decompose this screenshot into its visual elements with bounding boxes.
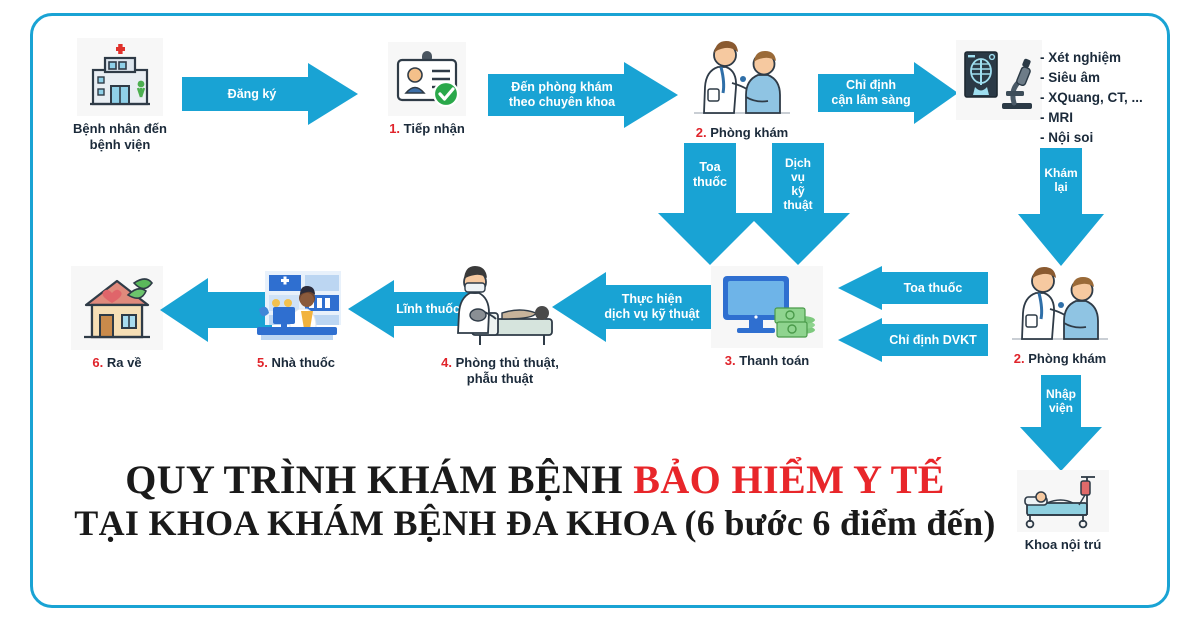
- step-label: Khoa nội trú: [1025, 537, 1102, 552]
- arrow-do-tech-service: Thực hiện dịch vụ kỹ thuật: [552, 272, 712, 342]
- arrow-reexam: Khám lại: [1018, 148, 1104, 266]
- arrow-tech-service-down: Dịch vụ kỹ thuật: [746, 143, 850, 265]
- node-payment: 3. Thanh toán: [708, 266, 826, 369]
- hospital-icon: [77, 38, 163, 116]
- step-label: Bệnh nhân đến bệnh viện: [73, 121, 167, 152]
- arrow-register: Đăng ký: [182, 63, 358, 125]
- step-label: Phòng khám: [707, 125, 789, 140]
- node-inpatient: Khoa nội trú: [1008, 470, 1118, 553]
- doctor-patient-icon: [687, 36, 797, 120]
- node-caption: 5. Nhà thuốc: [240, 355, 352, 371]
- title-highlight: BẢO HIỂM Y TẾ: [633, 457, 945, 502]
- doctor-patient-icon: [1005, 262, 1115, 346]
- step-number: 4.: [441, 355, 452, 370]
- node-patient-arrives: Bệnh nhân đến bệnh viện: [65, 38, 175, 154]
- step-label: Nhà thuốc: [268, 355, 335, 370]
- step-label: Phòng khám: [1025, 351, 1107, 366]
- title-line-1: QUY TRÌNH KHÁM BỆNH BẢO HIỂM Y TẾ: [55, 458, 1015, 503]
- title-subtitle: (6 bước 6 điểm đến): [684, 503, 995, 543]
- node-caption: 1. Tiếp nhận: [378, 121, 476, 137]
- step-number: 2.: [1014, 351, 1025, 366]
- arrow-to-clinic: Đến phòng khám theo chuyên khoa: [488, 62, 678, 128]
- node-clinic-top: 2. Phòng khám: [680, 36, 804, 141]
- title-plain-1: QUY TRÌNH KHÁM BỆNH: [125, 457, 633, 502]
- home-icon: [71, 266, 163, 350]
- node-caption: 2. Phòng khám: [680, 125, 804, 141]
- arrow-prescription-left: Toa thuốc: [838, 266, 988, 310]
- node-pharmacy: 5. Nhà thuốc: [240, 264, 352, 371]
- surgery-icon: [441, 262, 559, 350]
- node-procedure-room: 4. Phòng thủ thuật, phẫu thuật: [428, 262, 572, 388]
- node-caption: Khoa nội trú: [1008, 537, 1118, 553]
- title-line-2: TẠI KHOA KHÁM BỆNH ĐA KHOA (6 bước 6 điể…: [55, 503, 1015, 544]
- step-label: Thanh toán: [736, 353, 810, 368]
- node-caption: 2. Phòng khám: [998, 351, 1122, 367]
- node-clinic-right: 2. Phòng khám: [998, 262, 1122, 367]
- diagram-title: QUY TRÌNH KHÁM BỆNH BẢO HIỂM Y TẾ TẠI KH…: [55, 458, 1015, 544]
- arrow-admission: Nhập viện: [1020, 375, 1102, 471]
- pharmacy-icon: [242, 264, 350, 350]
- step-number: 2.: [696, 125, 707, 140]
- node-diagnostics: [955, 40, 1043, 120]
- step-label: Ra về: [103, 355, 141, 370]
- node-reception: 1. Tiếp nhận: [378, 42, 476, 137]
- xray-microscope-icon: [956, 40, 1042, 120]
- node-caption: 4. Phòng thủ thuật, phẫu thuật: [428, 355, 572, 388]
- hospital-bed-icon: [1017, 470, 1109, 532]
- node-caption: 3. Thanh toán: [708, 353, 826, 369]
- step-number: 5.: [257, 355, 268, 370]
- step-number: 6.: [92, 355, 103, 370]
- node-go-home: 6. Ra về: [62, 266, 172, 371]
- arrow-order-dvkt: Chỉ định DVKT: [838, 318, 988, 362]
- id-card-check-icon: [388, 42, 466, 116]
- arrow-paraclinical: Chỉ định cận lâm sàng: [818, 62, 958, 124]
- diagnostic-service-list: - Xét nghiệm - Siêu âm - XQuang, CT, ...…: [1040, 48, 1190, 148]
- node-caption: 6. Ra về: [62, 355, 172, 371]
- step-label: Tiếp nhận: [400, 121, 465, 136]
- step-number: 3.: [725, 353, 736, 368]
- monitor-money-icon: [711, 266, 823, 348]
- node-caption: Bệnh nhân đến bệnh viện: [65, 121, 175, 154]
- step-number: 1.: [389, 121, 400, 136]
- title-plain-2: TẠI KHOA KHÁM BỆNH ĐA KHOA: [74, 503, 684, 543]
- step-label: Phòng thủ thuật, phẫu thuật: [452, 355, 559, 386]
